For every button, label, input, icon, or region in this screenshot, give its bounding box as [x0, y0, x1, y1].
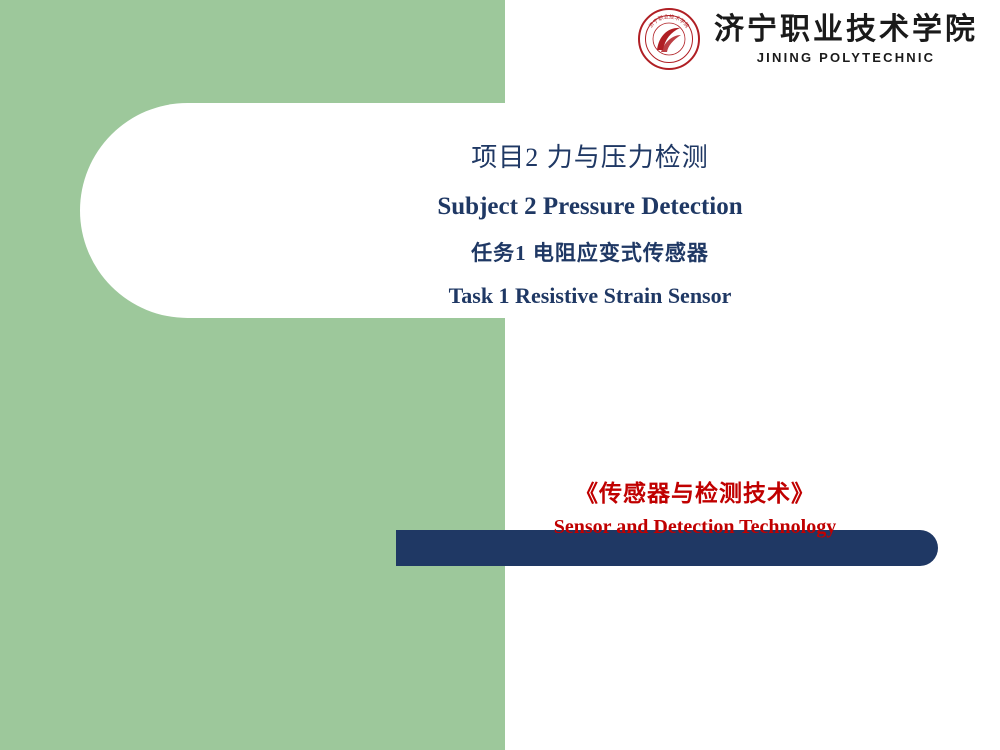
- task-title-cn: 任务1 电阻应变式传感器: [240, 237, 940, 267]
- title-block: 项目2 力与压力检测 Subject 2 Pressure Detection …: [240, 138, 940, 309]
- slide: 济宁职业技术学院 济宁职业技术学院 JINING POLYTECHNIC 项目2…: [0, 0, 1000, 750]
- logo-name-en: JINING POLYTECHNIC: [757, 51, 936, 64]
- course-name-cn: 《传感器与检测技术》: [460, 474, 930, 508]
- project-title-en: Subject 2 Pressure Detection: [240, 193, 940, 221]
- svg-text:济宁职业技术学院: 济宁职业技术学院: [647, 12, 692, 30]
- logo-name-cn: 济宁职业技术学院: [714, 15, 978, 45]
- task-title-en: Task 1 Resistive Strain Sensor: [240, 283, 940, 309]
- course-name-en: Sensor and Detection Technology: [460, 516, 930, 539]
- project-title-cn: 项目2 力与压力检测: [240, 138, 940, 177]
- emblem-arc-text-icon: 济宁职业技术学院: [640, 10, 698, 68]
- logo-text-block: 济宁职业技术学院 JINING POLYTECHNIC: [714, 15, 978, 64]
- jining-polytechnic-emblem-icon: 济宁职业技术学院: [638, 8, 700, 70]
- course-block: 《传感器与检测技术》 Sensor and Detection Technolo…: [460, 474, 930, 539]
- institution-logo: 济宁职业技术学院 济宁职业技术学院 JINING POLYTECHNIC: [638, 8, 978, 70]
